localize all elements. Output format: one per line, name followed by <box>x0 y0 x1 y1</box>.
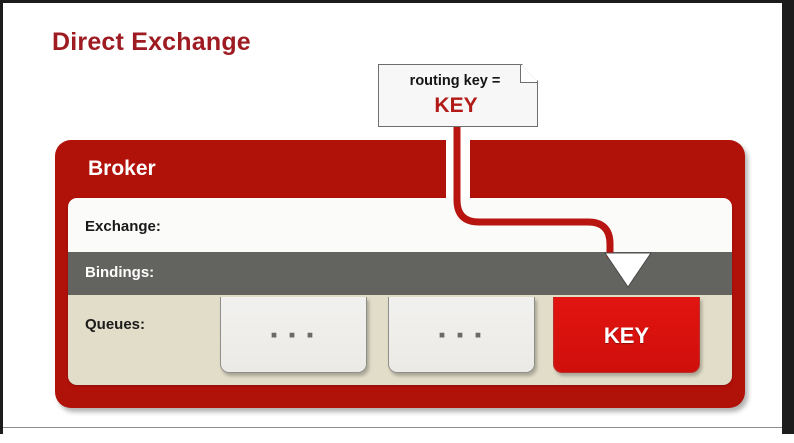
frame-bottom-border <box>0 434 794 443</box>
queue-placeholder-1[interactable]: ▪ ▪ ▪ <box>220 297 367 373</box>
bindings-row: Bindings: <box>68 252 732 295</box>
queue-placeholder-2[interactable]: ▪ ▪ ▪ <box>388 297 535 373</box>
page-title: Direct Exchange <box>52 28 251 57</box>
bindings-row-label: Bindings: <box>85 264 154 281</box>
slide-canvas: Direct Exchange Broker Exchange: Binding… <box>0 0 794 443</box>
connector-notch <box>446 140 470 200</box>
routing-key-note: routing key = KEY <box>378 64 538 127</box>
queue-placeholder-1-label: ▪ ▪ ▪ <box>221 331 366 341</box>
exchange-row: Exchange: <box>68 198 732 252</box>
queue-key-label: KEY <box>554 323 699 349</box>
frame-right-border <box>782 0 794 443</box>
frame-left-border <box>0 0 3 443</box>
broker-title: Broker <box>88 157 156 181</box>
note-line-2: KEY <box>378 94 538 118</box>
frame-top-border <box>0 0 794 3</box>
queues-row-label: Queues: <box>85 316 145 333</box>
exchange-row-label: Exchange: <box>85 218 161 235</box>
note-line-1: routing key = <box>378 73 538 89</box>
queue-key[interactable]: KEY <box>553 297 700 373</box>
frame-bottom-rule <box>3 427 782 428</box>
queue-placeholder-2-label: ▪ ▪ ▪ <box>389 331 534 341</box>
